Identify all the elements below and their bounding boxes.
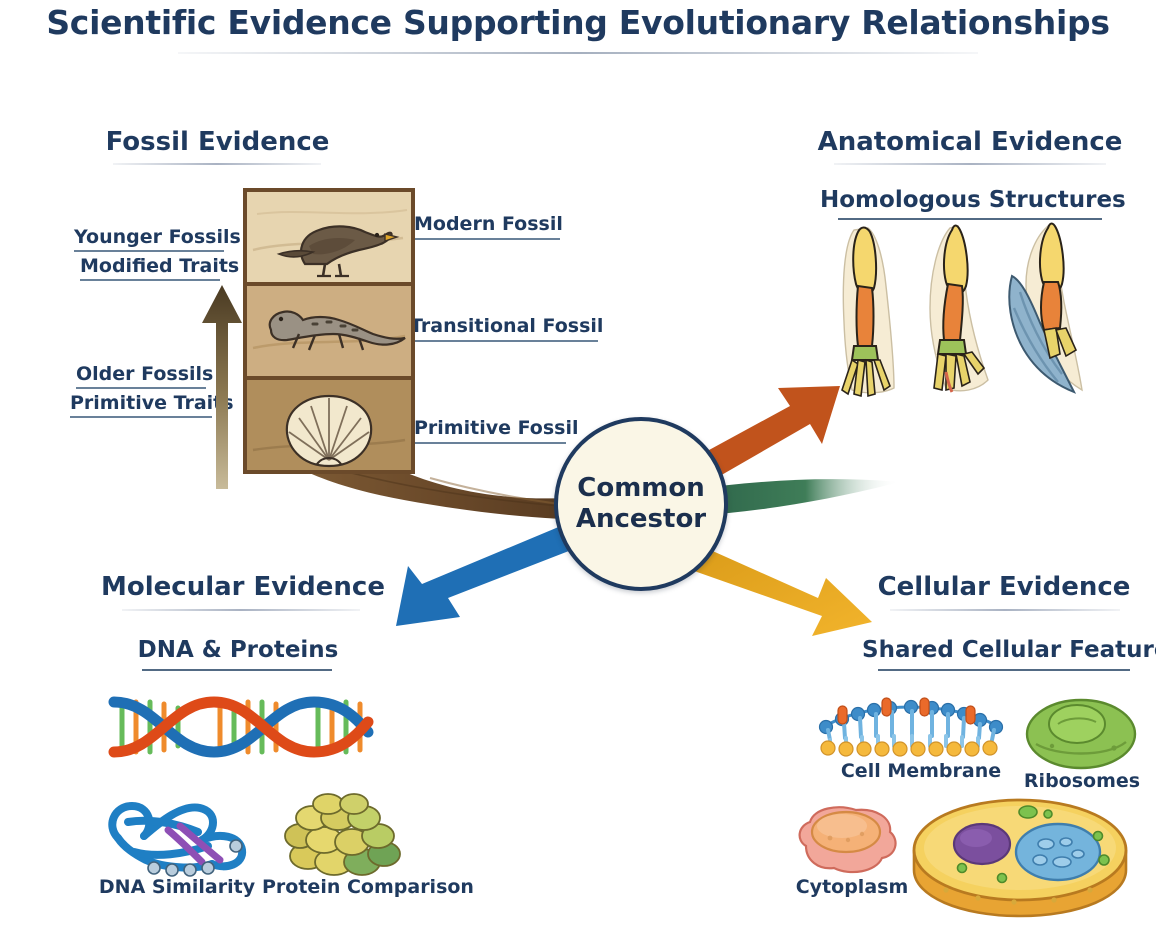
cell-diagram-icon: [906, 794, 1136, 920]
bird-wing-bones-icon: [1009, 224, 1082, 393]
ribosome-icon: [1022, 690, 1140, 772]
human-arm-bones-icon: [842, 228, 894, 397]
homologous-limbs-group: [828, 222, 1098, 408]
diagram-canvas: Scientific Evidence Supporting Evolution…: [0, 0, 1156, 935]
rock-strata-column: [243, 188, 415, 476]
hub-line-2: Ancestor: [576, 504, 706, 535]
cell-membrane-icon: [816, 694, 1006, 756]
frog-leg-bones-icon: [930, 226, 988, 393]
dna-helix-icon: [96, 688, 386, 766]
common-ancestor-node[interactable]: Common Ancestor: [554, 417, 728, 591]
up-arrow-icon: [198, 283, 246, 491]
strata-layer-modern: [245, 190, 413, 284]
shell-fossil-icon: [287, 396, 371, 466]
hub-line-1: Common: [577, 473, 705, 504]
protein-ribbon-icon: [104, 792, 264, 882]
protein-blob-icon: [278, 792, 408, 882]
strata-layer-primitive: [245, 378, 413, 472]
strata-layer-transitional: [245, 284, 413, 378]
cytoplasm-icon: [790, 800, 910, 882]
